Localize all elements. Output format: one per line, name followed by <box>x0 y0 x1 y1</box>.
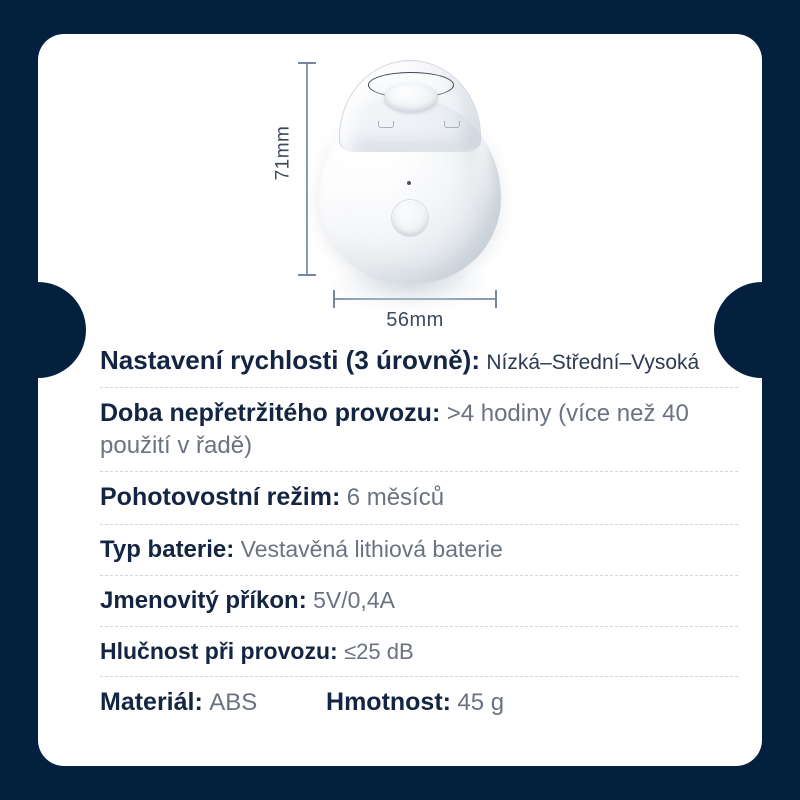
width-dimension-label: 56mm <box>333 309 497 332</box>
spec-value: ≤25 dB <box>344 639 414 664</box>
spec-row-battery-type: Typ baterie: Vestavěná lithiová baterie <box>100 524 738 575</box>
spec-label: Pohotovostní režim: <box>100 483 340 511</box>
product-device-image <box>319 54 501 306</box>
spec-row-rated-power: Jmenovitý příkon: 5V/0,4A <box>100 575 738 626</box>
spec-row-runtime: Doba nepřetržitého provozu: >4 hodiny (v… <box>100 387 738 472</box>
height-dimension-line <box>306 63 308 275</box>
spec-label: Jmenovitý příkon: <box>100 587 307 614</box>
spec-row-material-weight: Materiál: ABS Hmotnost: 45 g <box>100 676 738 729</box>
device-transparent-cap <box>339 60 481 152</box>
card-notch-right <box>714 282 800 378</box>
device-led-indicator <box>407 181 411 185</box>
spec-value-material: ABS <box>209 689 257 716</box>
device-power-button <box>392 200 428 236</box>
spec-value: 5V/0,4A <box>313 587 395 613</box>
spec-value-weight: 45 g <box>457 689 504 716</box>
product-infographic-poster: 71mm 56mm Nastavení rychlos <box>0 0 800 800</box>
specification-list: Nastavení rychlosti (3 úrovně): Nízká–St… <box>38 334 762 729</box>
spec-row-speed: Nastavení rychlosti (3 úrovně): Nízká–St… <box>100 334 738 387</box>
spec-label: Nastavení rychlosti (3 úrovně): <box>100 345 480 375</box>
spec-label-weight: Hmotnost: <box>326 688 451 716</box>
device-cap-clip-left <box>378 121 394 128</box>
spec-card: 71mm 56mm Nastavení rychlos <box>38 34 762 766</box>
spec-value: 6 měsíců <box>347 484 444 511</box>
spec-row-noise: Hlučnost při provozu: ≤25 dB <box>100 626 738 676</box>
product-illustration-area: 71mm 56mm <box>38 34 762 340</box>
height-dimension-label: 71mm <box>272 126 294 181</box>
spec-value: Nízká–Střední–Vysoká <box>486 351 699 374</box>
spec-label: Hlučnost při provozu: <box>100 638 338 664</box>
spec-value: Vestavěná lithiová baterie <box>241 536 503 562</box>
spec-label: Typ baterie: <box>100 536 234 563</box>
spec-row-standby: Pohotovostní režim: 6 měsíců <box>100 471 738 524</box>
spec-label-material: Materiál: <box>100 688 203 716</box>
spec-label: Doba nepřetržitého provozu: <box>100 399 440 427</box>
device-cap-clip-right <box>444 121 460 128</box>
device-grinding-head <box>384 83 438 113</box>
